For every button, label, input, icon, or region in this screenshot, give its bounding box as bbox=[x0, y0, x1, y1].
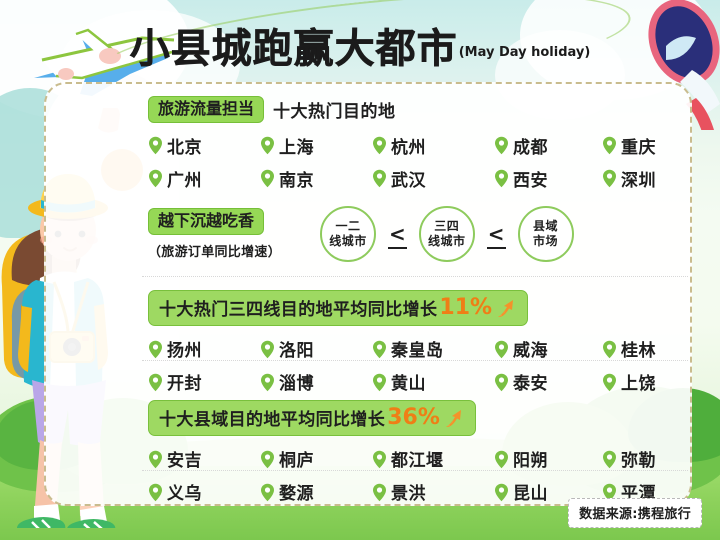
city-name: 阳朔 bbox=[511, 446, 550, 472]
city-tag[interactable]: 武汉 bbox=[372, 166, 494, 192]
city-name: 泰安 bbox=[511, 369, 550, 395]
city-name: 威海 bbox=[511, 336, 550, 362]
up-arrow-icon bbox=[495, 297, 517, 319]
city-name: 扬州 bbox=[165, 336, 204, 362]
city-tag[interactable]: 上海 bbox=[260, 133, 372, 159]
city-name: 上海 bbox=[277, 133, 316, 159]
banner-label: 十大热门三四线目的地平均同比增长 bbox=[159, 295, 437, 320]
map-pin-icon bbox=[602, 340, 617, 359]
less-than-operator: < bbox=[389, 222, 406, 246]
city-tag[interactable]: 杭州 bbox=[372, 133, 494, 159]
section-hot-destinations: 旅游流量担当 十大热门目的地 北京 上海 杭州 成都 bbox=[148, 96, 682, 192]
comparison-label-block: 越下沉越吃香 （旅游订单同比增速） bbox=[148, 208, 320, 260]
city-name: 弥勒 bbox=[619, 446, 658, 472]
map-pin-icon bbox=[372, 450, 387, 469]
city-name: 黄山 bbox=[389, 369, 428, 395]
map-pin-icon bbox=[372, 483, 387, 502]
city-name: 重庆 bbox=[619, 133, 658, 159]
section-heading: 十大热门目的地 bbox=[273, 97, 396, 122]
city-tag[interactable]: 洛阳 bbox=[260, 336, 372, 362]
tier-circle-line1: 县域 bbox=[533, 219, 558, 234]
city-tag[interactable]: 义乌 bbox=[148, 479, 260, 505]
city-tag[interactable]: 桐庐 bbox=[260, 446, 372, 472]
city-tag[interactable]: 重庆 bbox=[602, 133, 682, 159]
map-pin-icon bbox=[602, 450, 617, 469]
city-tag[interactable]: 弥勒 bbox=[602, 446, 682, 472]
city-name: 上饶 bbox=[619, 369, 658, 395]
city-tag[interactable]: 扬州 bbox=[148, 336, 260, 362]
section-header: 旅游流量担当 十大热门目的地 bbox=[148, 96, 682, 123]
map-pin-icon bbox=[494, 340, 509, 359]
map-pin-icon bbox=[260, 483, 275, 502]
city-tag[interactable]: 安吉 bbox=[148, 446, 260, 472]
map-pin-icon bbox=[494, 483, 509, 502]
city-name: 深圳 bbox=[619, 166, 658, 192]
tier-circle-line2: 市场 bbox=[533, 234, 558, 249]
city-tag[interactable]: 都江堰 bbox=[372, 446, 494, 472]
map-pin-icon bbox=[260, 450, 275, 469]
infographic-poster: 小县城跑赢大都市(May Day holiday) 旅游流量担当 十大热门目的地… bbox=[0, 0, 720, 540]
map-pin-icon bbox=[372, 136, 387, 155]
city-name: 义乌 bbox=[165, 479, 204, 505]
city-tag[interactable]: 婺源 bbox=[260, 479, 372, 505]
content-card: 旅游流量担当 十大热门目的地 北京 上海 杭州 成都 bbox=[44, 82, 692, 506]
city-grid: 安吉 桐庐 都江堰 阳朔 弥勒 bbox=[148, 446, 682, 505]
growth-percent: 11% bbox=[439, 297, 492, 319]
section-divider bbox=[142, 276, 688, 277]
city-tag[interactable]: 北京 bbox=[148, 133, 260, 159]
section-badge: 旅游流量担当 bbox=[148, 96, 264, 123]
map-pin-icon bbox=[148, 169, 163, 188]
city-name: 安吉 bbox=[165, 446, 204, 472]
tier-circle-line2: 线城市 bbox=[428, 234, 466, 249]
section-tier34-destinations: 十大热门三四线目的地平均同比增长 11% 扬州 洛阳 秦皇岛 bbox=[148, 290, 682, 395]
map-pin-icon bbox=[494, 450, 509, 469]
city-tag[interactable]: 黄山 bbox=[372, 369, 494, 395]
city-tag[interactable]: 威海 bbox=[494, 336, 602, 362]
map-pin-icon bbox=[260, 136, 275, 155]
city-name: 桐庐 bbox=[277, 446, 316, 472]
tier-circle-line2: 线城市 bbox=[329, 234, 367, 249]
map-pin-icon bbox=[260, 373, 275, 392]
section-county-destinations: 十大县域目的地平均同比增长 36% 安吉 桐庐 都江堰 bbox=[148, 400, 682, 505]
map-pin-icon bbox=[148, 483, 163, 502]
tier-circle-3: 县域 市场 bbox=[518, 206, 574, 262]
city-tag[interactable]: 上饶 bbox=[602, 369, 682, 395]
city-name: 洛阳 bbox=[277, 336, 316, 362]
section-note: （旅游订单同比增速） bbox=[148, 241, 320, 260]
map-pin-icon bbox=[372, 340, 387, 359]
city-tag[interactable]: 桂林 bbox=[602, 336, 682, 362]
less-than-operator: < bbox=[488, 222, 505, 246]
tier-circle-2: 三四 线城市 bbox=[419, 206, 475, 262]
city-tag[interactable]: 西安 bbox=[494, 166, 602, 192]
map-pin-icon bbox=[494, 136, 509, 155]
city-name: 武汉 bbox=[389, 166, 428, 192]
map-pin-icon bbox=[372, 373, 387, 392]
growth-percent: 36% bbox=[387, 407, 440, 429]
tier-circle-line1: 三四 bbox=[434, 219, 459, 234]
map-pin-icon bbox=[148, 136, 163, 155]
city-name: 桂林 bbox=[619, 336, 658, 362]
map-pin-icon bbox=[494, 169, 509, 188]
map-pin-icon bbox=[602, 136, 617, 155]
city-grid: 北京 上海 杭州 成都 重庆 bbox=[148, 133, 682, 192]
up-arrow-icon bbox=[443, 407, 465, 429]
city-name: 婺源 bbox=[277, 479, 316, 505]
city-name: 北京 bbox=[165, 133, 204, 159]
city-name: 昆山 bbox=[511, 479, 550, 505]
map-pin-icon bbox=[148, 340, 163, 359]
city-tag[interactable]: 开封 bbox=[148, 369, 260, 395]
city-tag[interactable]: 秦皇岛 bbox=[372, 336, 494, 362]
city-name: 南京 bbox=[277, 166, 316, 192]
banner-label: 十大县域目的地平均同比增长 bbox=[159, 405, 385, 430]
page-title: 小县城跑赢大都市(May Day holiday) bbox=[0, 16, 720, 74]
map-pin-icon bbox=[260, 340, 275, 359]
map-pin-icon bbox=[602, 373, 617, 392]
city-name: 西安 bbox=[511, 166, 550, 192]
map-pin-icon bbox=[260, 169, 275, 188]
map-pin-icon bbox=[148, 373, 163, 392]
city-tag[interactable]: 淄博 bbox=[260, 369, 372, 395]
city-name: 成都 bbox=[511, 133, 550, 159]
city-tag[interactable]: 泰安 bbox=[494, 369, 602, 395]
city-tag[interactable]: 景洪 bbox=[372, 479, 494, 505]
city-tag[interactable]: 深圳 bbox=[602, 166, 682, 192]
map-pin-icon bbox=[602, 169, 617, 188]
section-sinking-market: 越下沉越吃香 （旅游订单同比增速） 一二 线城市 < 三四 线城市 < 县域 市… bbox=[148, 206, 682, 262]
city-name: 广州 bbox=[165, 166, 204, 192]
section-banner: 十大热门三四线目的地平均同比增长 11% bbox=[148, 290, 528, 326]
section-badge: 越下沉越吃香 bbox=[148, 208, 264, 235]
map-pin-icon bbox=[372, 169, 387, 188]
title-main-text: 小县城跑赢大都市 bbox=[130, 26, 458, 72]
city-tag[interactable]: 阳朔 bbox=[494, 446, 602, 472]
city-name: 杭州 bbox=[389, 133, 428, 159]
map-pin-icon bbox=[148, 450, 163, 469]
city-name: 淄博 bbox=[277, 369, 316, 395]
city-name: 景洪 bbox=[389, 479, 428, 505]
city-name: 秦皇岛 bbox=[389, 336, 446, 362]
tier-circle-line1: 一二 bbox=[335, 219, 360, 234]
data-source-badge: 数据来源:携程旅行 bbox=[568, 498, 702, 528]
city-grid: 扬州 洛阳 秦皇岛 威海 桂林 bbox=[148, 336, 682, 395]
city-tag[interactable]: 广州 bbox=[148, 166, 260, 192]
city-tag[interactable]: 南京 bbox=[260, 166, 372, 192]
section-banner: 十大县域目的地平均同比增长 36% bbox=[148, 400, 476, 436]
city-name: 开封 bbox=[165, 369, 204, 395]
map-pin-icon bbox=[494, 373, 509, 392]
city-name: 都江堰 bbox=[389, 446, 446, 472]
comparison-row: 越下沉越吃香 （旅游订单同比增速） 一二 线城市 < 三四 线城市 < 县域 市… bbox=[148, 206, 682, 262]
city-tag[interactable]: 成都 bbox=[494, 133, 602, 159]
title-sub-text: (May Day holiday) bbox=[459, 45, 591, 60]
tier-circle-1: 一二 线城市 bbox=[320, 206, 376, 262]
